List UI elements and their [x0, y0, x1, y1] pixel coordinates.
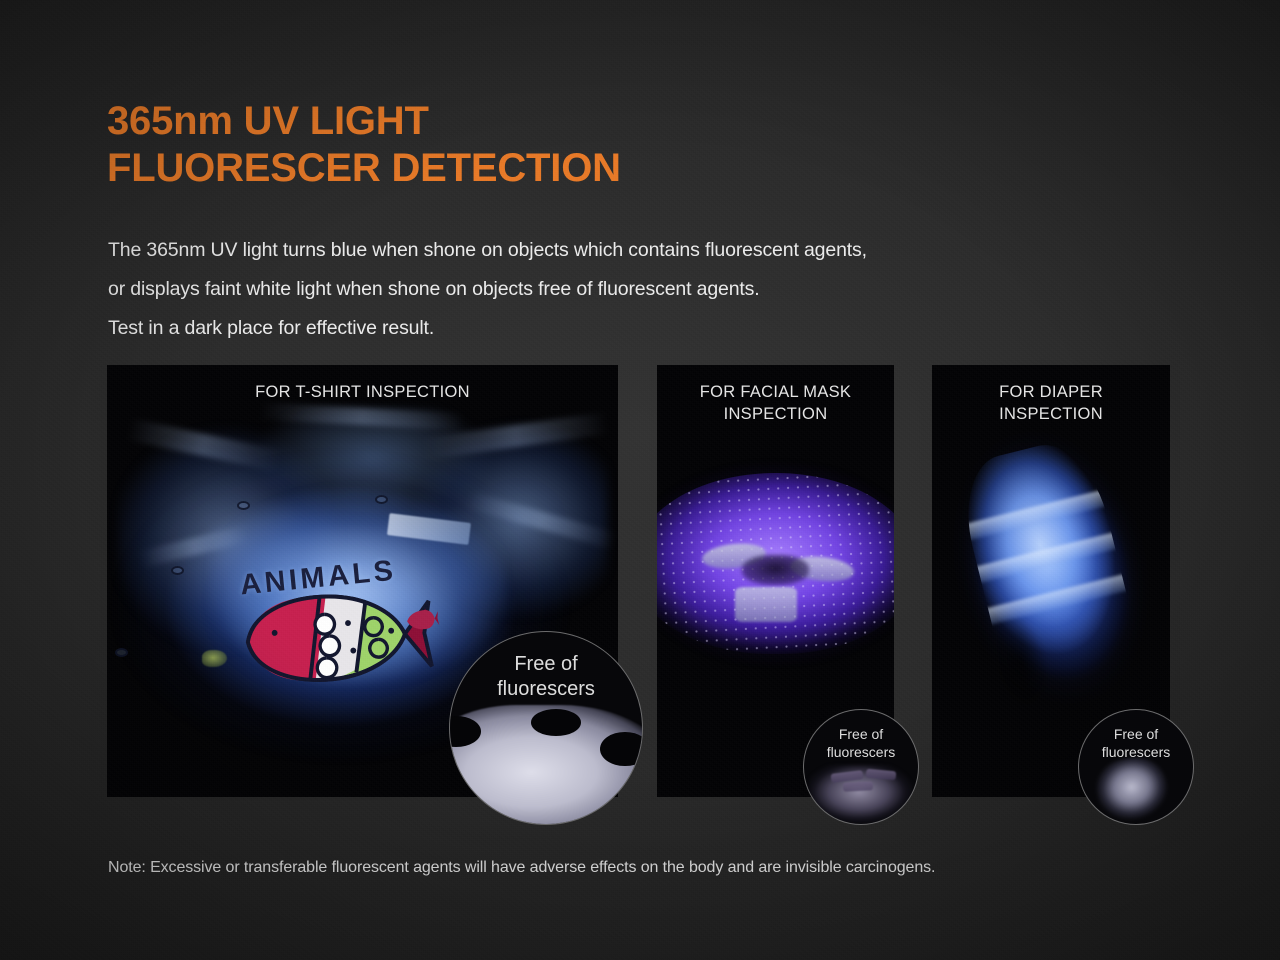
snap-button: [115, 648, 128, 657]
callout-tshirt-free-of-fluorescers: Free of fluorescers: [449, 631, 643, 825]
panel-facial-mask-label: FOR FACIAL MASK INSPECTION: [657, 382, 894, 425]
slide-root: 365nm UV LIGHT FLUORESCER DETECTION The …: [0, 0, 1280, 960]
non-fluorescing-diaper-sample: [1091, 751, 1174, 825]
fish-graphic-icon: [238, 585, 437, 690]
callout-label: Free of fluorescers: [804, 725, 918, 761]
fabric-edge: [531, 709, 581, 736]
mask-strip: [843, 781, 873, 792]
snap-button: [375, 495, 388, 504]
fish-small-graphic-icon: [405, 607, 440, 632]
facial-mask-mouth-opening: [735, 587, 797, 622]
diaper-band: [958, 488, 1112, 542]
callout-facial-mask-free-of-fluorescers: Free of fluorescers: [803, 709, 919, 825]
diaper-body: [952, 434, 1144, 702]
diaper-band: [969, 531, 1123, 585]
panel-tshirt-label: FOR T-SHIRT INSPECTION: [107, 382, 618, 404]
footnote-text: Note: Excessive or transferable fluoresc…: [108, 857, 935, 879]
callout-label: Free of fluorescers: [450, 652, 642, 702]
facial-mask-nose-opening: [742, 555, 808, 585]
panel-diaper-label: FOR DIAPER INSPECTION: [932, 382, 1170, 425]
callout-label: Free of fluorescers: [1079, 725, 1193, 761]
inspection-panels: ANIMALS: [0, 0, 1280, 960]
callout-diaper-free-of-fluorescers: Free of fluorescers: [1078, 709, 1194, 825]
snap-button: [171, 566, 184, 575]
